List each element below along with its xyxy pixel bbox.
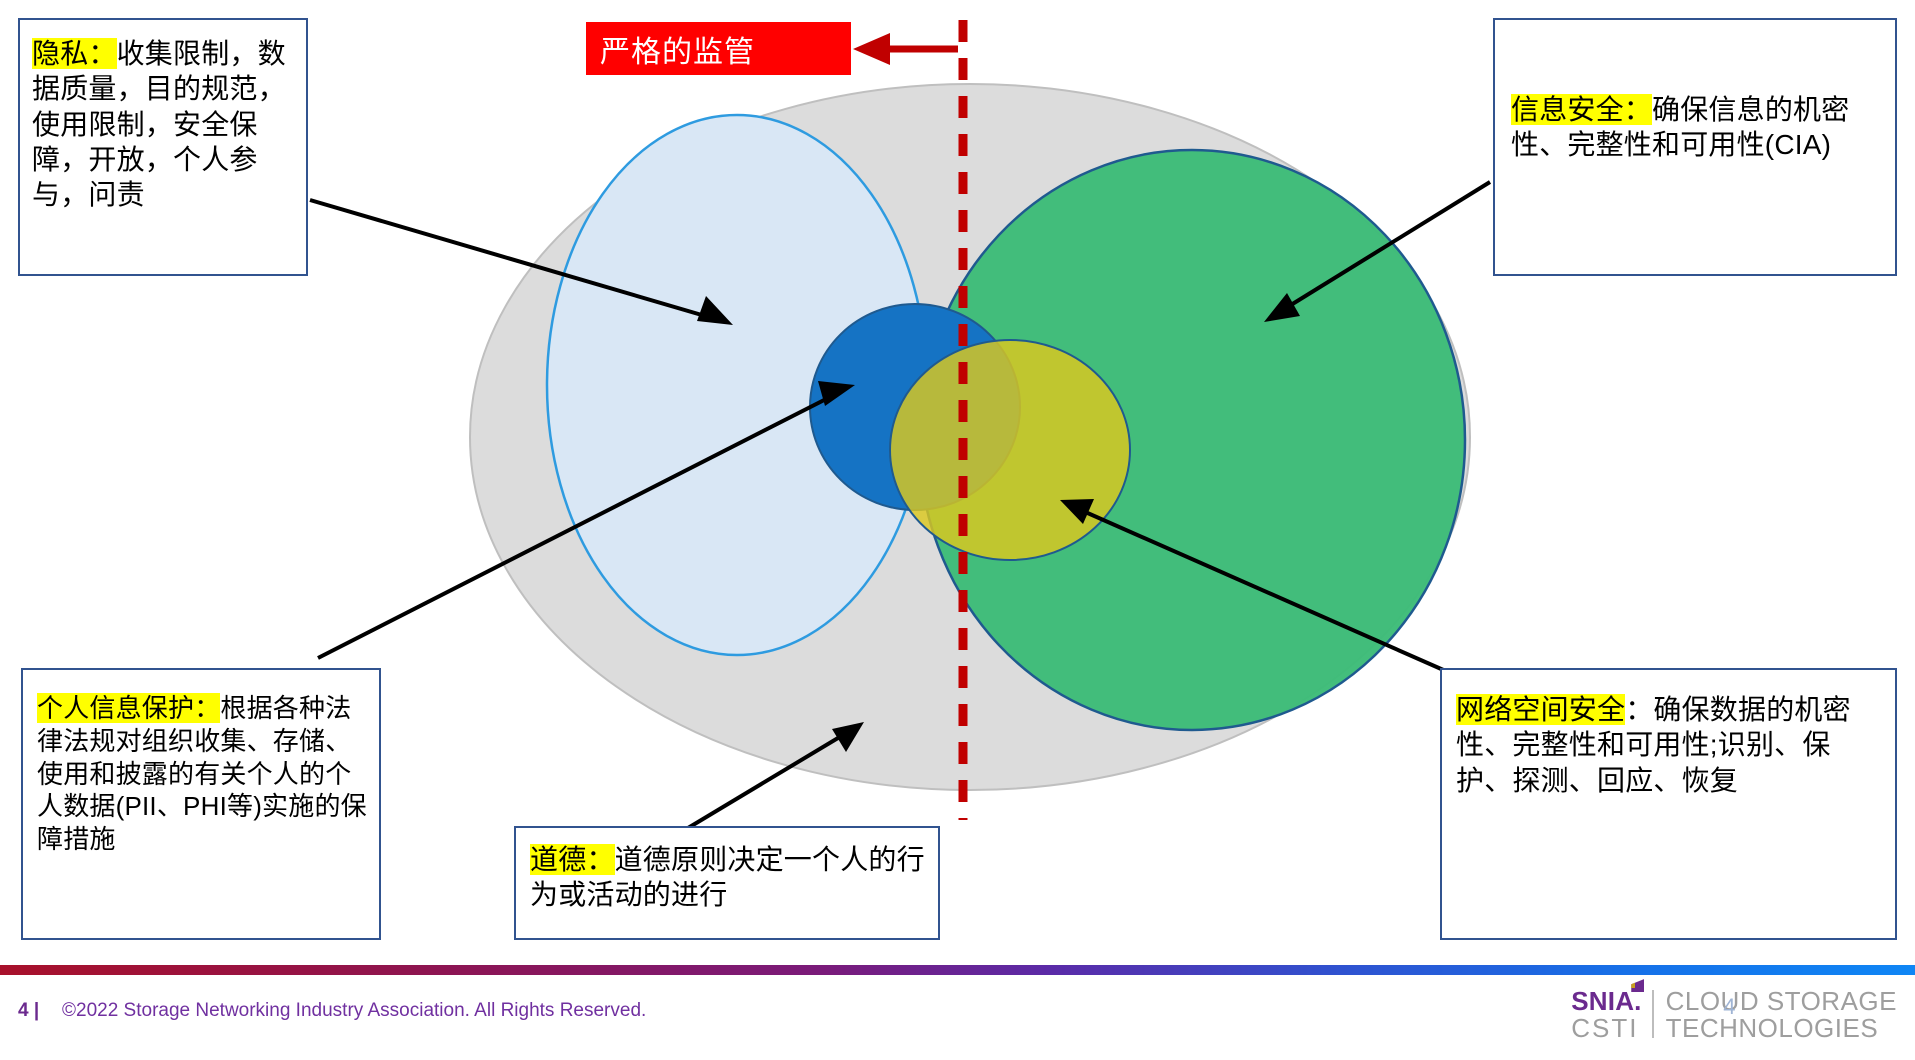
ethics-leader-arrow	[688, 722, 864, 828]
logo-brand-block: SNIA. CSTI	[1571, 988, 1651, 1041]
callout-cyberspace-security[interactable]: 网络空间安全：确保数据的机密性、完整性和可用性;识别、保护、探测、回应、恢复	[1440, 668, 1897, 940]
privacy-leader-arrow	[310, 200, 733, 325]
cyberspace-security-leader-arrow	[1060, 499, 1448, 672]
callout-cyberspace-security-title: 网络空间安全	[1456, 694, 1625, 725]
callout-privacy[interactable]: 隐私：收集限制，数据质量，目的规范，使用限制，安全保障，开放，个人参与，问责	[18, 18, 308, 276]
strict-regulation-label: 严格的监管	[600, 27, 755, 71]
logo-tagline-line2: TECHNOLOGIES	[1666, 1015, 1897, 1042]
personal-information-protection-leader-arrow	[318, 381, 855, 658]
footer-gradient-bar	[0, 965, 1915, 975]
callout-privacy-title: 隐私：	[32, 38, 117, 69]
personal-information-protection-circle	[810, 304, 1020, 510]
slide-canvas: 严格的监管 隐私：收集限制，数据质量，目的规范，使用限制，安全保障，开放，个人参…	[0, 0, 1915, 1060]
information-security-leader-arrow	[1264, 182, 1490, 322]
snia-csti-logo: SNIA. CSTI CLOUD STORAGE TECHNOLOGIES 4	[1571, 988, 1897, 1042]
regulation-arrow	[853, 33, 958, 65]
copyright-text: ©2022 Storage Networking Industry Associ…	[62, 1000, 646, 1022]
cyberspace-security-ellipse	[890, 340, 1130, 560]
logo-snia-text: SNIA.	[1571, 988, 1641, 1015]
callout-ethics-title: 道德：	[530, 844, 615, 875]
callout-information-security-title: 信息安全：	[1511, 94, 1652, 125]
page-number-value: 4	[18, 1000, 29, 1021]
callout-ethics[interactable]: 道德：道德原则决定一个人的行为或活动的进行	[514, 826, 940, 940]
page-number-separator: |	[34, 1000, 39, 1021]
callout-personal-information-protection[interactable]: 个人信息保护：根据各种法律法规对组织收集、存储、使用和披露的有关个人的个人数据(…	[21, 668, 381, 940]
ethics-ellipse	[470, 84, 1470, 790]
logo-tagline-block: CLOUD STORAGE TECHNOLOGIES 4	[1666, 988, 1897, 1042]
logo-ghost-page-number: 4	[1723, 996, 1735, 1019]
callout-personal-information-protection-title: 个人信息保护：	[37, 693, 220, 723]
snia-flag-icon	[1631, 979, 1644, 992]
strict-regulation-banner: 严格的监管	[586, 22, 851, 75]
callout-information-security[interactable]: 信息安全：确保信息的机密性、完整性和可用性(CIA)	[1493, 18, 1897, 276]
logo-divider	[1652, 990, 1654, 1038]
logo-tagline-line1: CLOUD STORAGE	[1666, 988, 1897, 1015]
information-security-circle	[919, 150, 1465, 730]
logo-csti-text: CSTI	[1571, 1015, 1641, 1042]
page-number: 4 |	[18, 1000, 39, 1022]
privacy-ellipse	[547, 115, 927, 655]
